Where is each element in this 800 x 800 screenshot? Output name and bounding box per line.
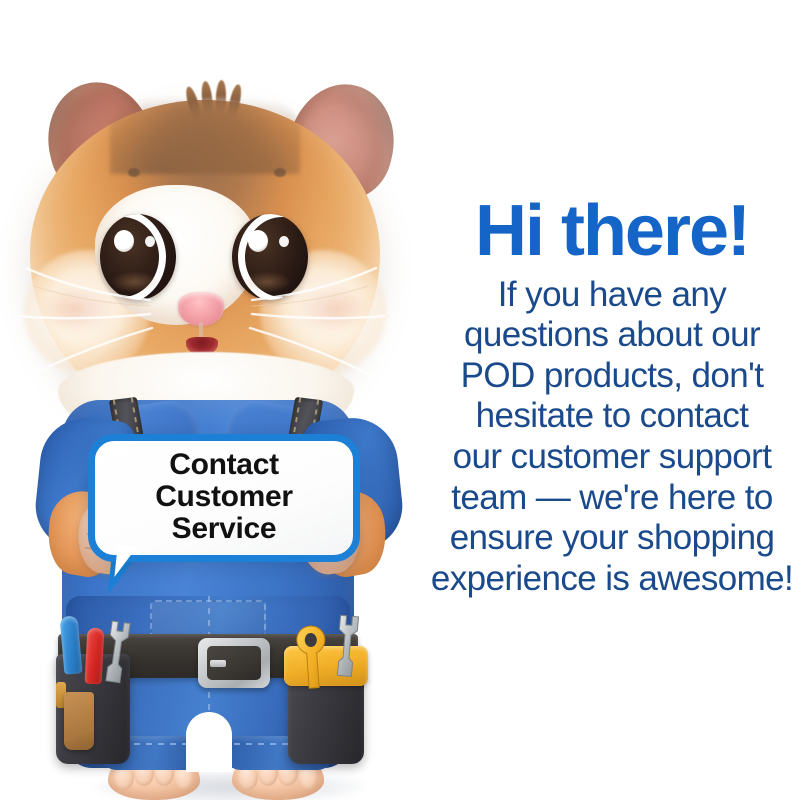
speech-bubble-tail-fill — [114, 546, 146, 577]
hamster-right-eye — [232, 214, 308, 300]
right-eye-highlight-small — [279, 236, 289, 247]
belt-buckle — [198, 638, 270, 688]
pants-leg-gap — [186, 712, 232, 772]
promo-banner: Contact Customer Service Hi there! If yo… — [0, 0, 800, 800]
left-eye-highlight-small — [145, 236, 155, 247]
right-blush — [298, 286, 370, 332]
left-eye-highlight — [114, 230, 134, 252]
hamster-mascot-illustration — [0, 0, 430, 800]
message-panel: Hi there! If you have any questions abou… — [424, 196, 800, 599]
left-brow-dot — [128, 168, 140, 177]
sign-label: Contact Customer Service — [155, 449, 293, 544]
greeting-heading: Hi there! — [424, 196, 800, 267]
right-eye-highlight — [248, 230, 268, 252]
speech-bubble-body: Contact Customer Service — [88, 434, 360, 562]
support-message-body: If you have any questions about our POD … — [424, 275, 800, 600]
hamster-left-eye — [100, 214, 176, 300]
right-brow-dot — [274, 168, 286, 177]
yellow-wrench-icon — [292, 623, 333, 691]
silver-wrench-icon-2 — [327, 613, 366, 680]
contact-customer-service-sign[interactable]: Contact Customer Service — [88, 434, 360, 562]
